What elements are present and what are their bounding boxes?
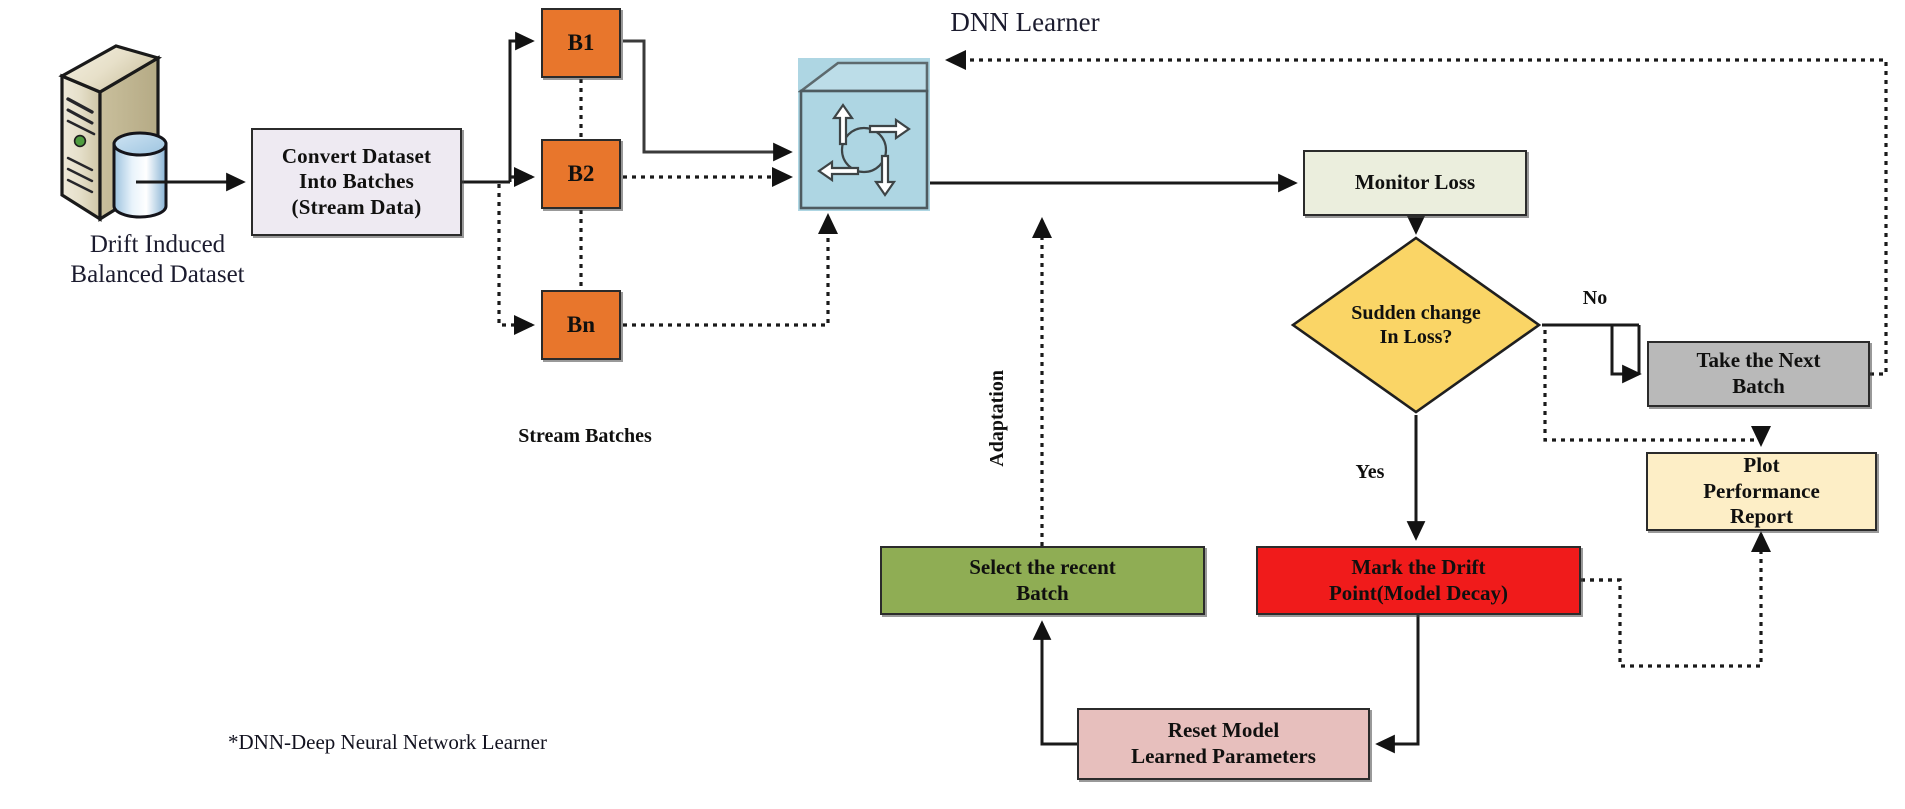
node-batch-b2-label: B2 [568, 160, 595, 188]
node-batch-b2[interactable]: B2 [541, 139, 621, 209]
node-plot-performance-report-label: Plot Performance Report [1703, 453, 1820, 530]
node-mark-drift-point-label: Mark the Drift Point(Model Decay) [1329, 555, 1508, 606]
node-select-recent-batch[interactable]: Select the recent Batch [880, 546, 1205, 615]
source-dataset-label: Drift Induced Balanced Dataset [40, 230, 275, 290]
node-decision-label: Sudden change In Loss? [1290, 301, 1542, 350]
node-batch-b1-label: B1 [568, 29, 595, 57]
node-batch-b1[interactable]: B1 [541, 8, 621, 78]
node-monitor-loss-label: Monitor Loss [1355, 170, 1475, 196]
edge-label-no: No [1565, 286, 1625, 310]
node-convert-dataset[interactable]: Convert Dataset Into Batches (Stream Dat… [251, 128, 462, 236]
node-decision-sudden-change[interactable]: Sudden change In Loss? [1290, 235, 1542, 415]
node-take-next-batch[interactable]: Take the Next Batch [1647, 341, 1870, 407]
dnn-learner-shape [798, 58, 930, 211]
node-reset-model-parameters[interactable]: Reset Model Learned Parameters [1077, 708, 1370, 780]
node-reset-model-parameters-label: Reset Model Learned Parameters [1131, 718, 1316, 769]
node-batch-bn-label: Bn [567, 311, 595, 339]
dnn-learner-title: DNN Learner [880, 6, 1170, 38]
footnote-dnn-expansion: *DNN-Deep Neural Network Learner [228, 730, 648, 755]
diagram-canvas: Convert Dataset Into Batches (Stream Dat… [0, 0, 1905, 809]
node-plot-performance-report[interactable]: Plot Performance Report [1646, 452, 1877, 531]
edge-label-adaptation: Adaptation [985, 370, 1009, 467]
edge-label-yes: Yes [1340, 460, 1400, 484]
node-select-recent-batch-label: Select the recent Batch [969, 555, 1116, 606]
node-monitor-loss[interactable]: Monitor Loss [1303, 150, 1527, 216]
node-batch-bn[interactable]: Bn [541, 290, 621, 360]
node-dnn-learner[interactable] [798, 58, 930, 211]
node-take-next-batch-label: Take the Next Batch [1696, 348, 1820, 399]
node-mark-drift-point[interactable]: Mark the Drift Point(Model Decay) [1256, 546, 1581, 615]
connector-layer [0, 0, 1905, 809]
node-convert-dataset-label: Convert Dataset Into Batches (Stream Dat… [282, 144, 431, 221]
database-server-icon [30, 20, 230, 235]
stream-batches-label: Stream Batches [460, 424, 710, 448]
